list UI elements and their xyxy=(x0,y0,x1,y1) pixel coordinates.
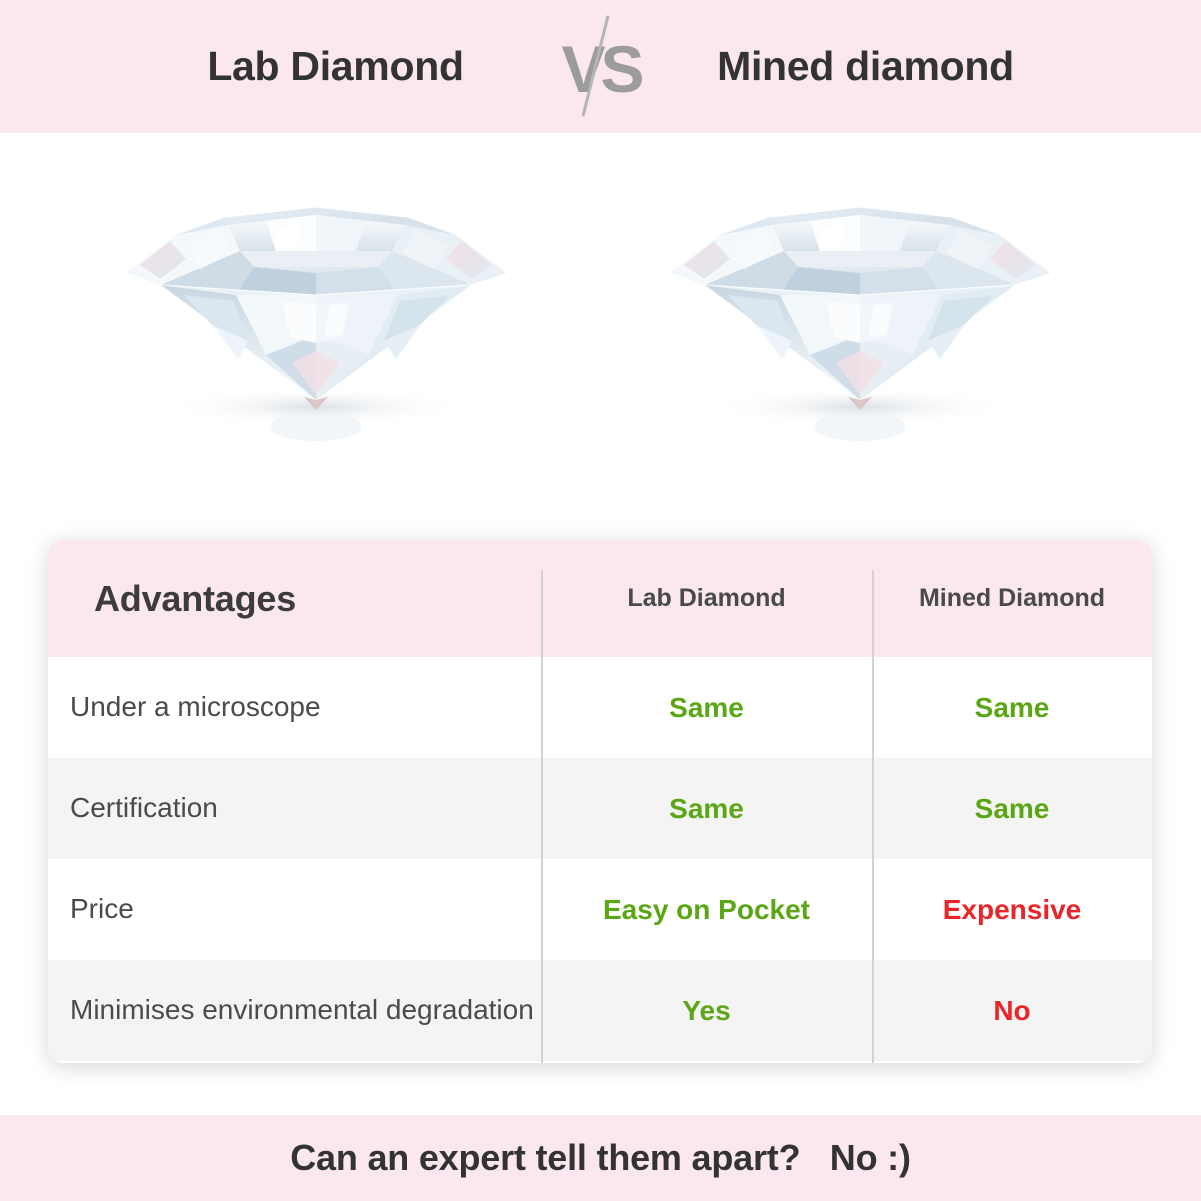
row-value-lab: Yes xyxy=(541,995,872,1027)
row-value-mined: Same xyxy=(872,793,1152,825)
row-value-mined: Expensive xyxy=(872,894,1152,926)
lab-diamond-image xyxy=(116,155,516,455)
column-header-mined-diamond: Mined Diamond xyxy=(872,584,1152,613)
row-value-lab: Easy on Pocket xyxy=(541,894,872,926)
column-divider-2 xyxy=(872,570,874,1063)
column-header-advantages: Advantages xyxy=(48,578,541,620)
mined-diamond-title: Mined diamond xyxy=(661,43,1071,90)
table-row: Minimises environmental degradation Yes … xyxy=(48,960,1152,1061)
table-header-row: Advantages Lab Diamond Mined Diamond xyxy=(48,540,1152,657)
footer-question: Can an expert tell them apart? No :) xyxy=(290,1137,911,1179)
top-banner: Lab Diamond VS Mined diamond xyxy=(0,0,1201,133)
column-header-lab-diamond: Lab Diamond xyxy=(541,584,872,613)
row-label: Price xyxy=(48,891,541,927)
comparison-table-card: Advantages Lab Diamond Mined Diamond Und… xyxy=(48,540,1152,1063)
diamond-images-section xyxy=(0,133,1201,540)
column-divider-1 xyxy=(541,570,543,1063)
row-value-mined: No xyxy=(872,995,1152,1027)
infographic-page: Lab Diamond VS Mined diamond xyxy=(0,0,1201,1201)
row-label: Under a microscope xyxy=(48,689,541,725)
row-label: Certification xyxy=(48,790,541,826)
row-value-lab: Same xyxy=(541,692,872,724)
table-row: Certification Same Same xyxy=(48,758,1152,859)
row-label: Minimises environmental degradation xyxy=(48,992,541,1028)
bottom-banner: Can an expert tell them apart? No :) xyxy=(0,1115,1201,1201)
mined-diamond-image xyxy=(660,155,1060,455)
row-value-lab: Same xyxy=(541,793,872,825)
lab-diamond-title: Lab Diamond xyxy=(131,43,541,90)
table-row: Price Easy on Pocket Expensive xyxy=(48,859,1152,960)
row-value-mined: Same xyxy=(872,692,1152,724)
table-row: Under a microscope Same Same xyxy=(48,657,1152,758)
vs-badge: VS xyxy=(541,0,661,133)
